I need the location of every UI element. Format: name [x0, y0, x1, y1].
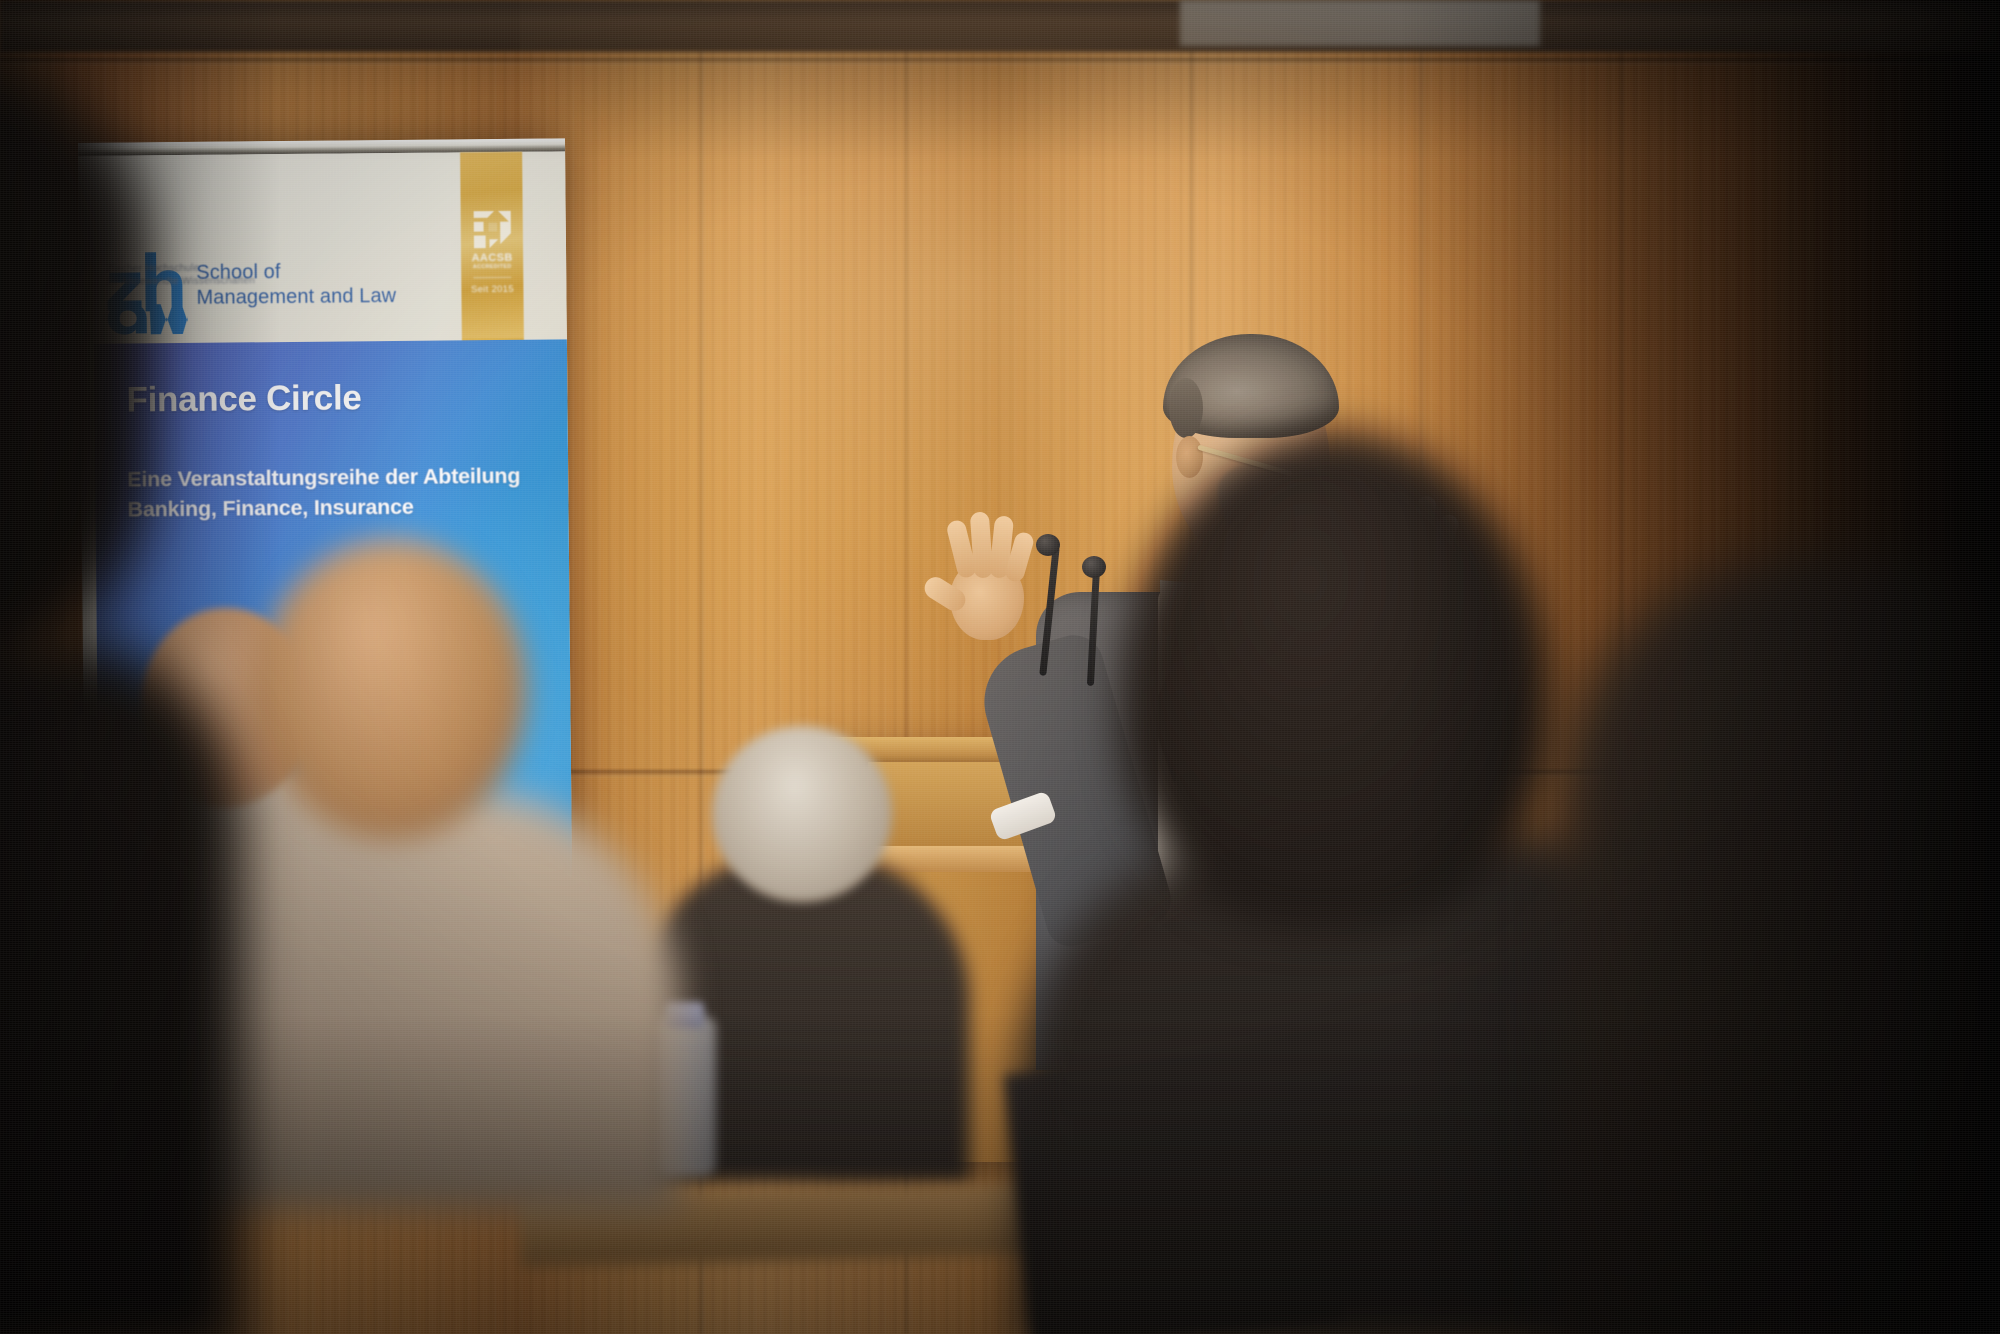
school-name-line1: School of [196, 259, 396, 286]
ceiling-panel [1180, 0, 1540, 46]
microphone-head-icon [1036, 534, 1060, 556]
shirt-button [1222, 776, 1233, 787]
shirt-button [1222, 836, 1233, 847]
speaker-figure [1000, 330, 1470, 1070]
shirt-button [1222, 716, 1233, 727]
leaf-ornament-icon [472, 924, 574, 1063]
shirt-button [1222, 956, 1233, 967]
rollup-banner: Zürcher Hochschule für Angewandte Wissen… [78, 138, 574, 1063]
photo-scene: Zürcher Hochschule für Angewandte Wissen… [0, 0, 2000, 1334]
microphone-head-icon [1082, 556, 1106, 578]
banner-subtitle-line1: Eine Veranstaltungsreihe der Abteilung [127, 460, 559, 494]
school-name-line2: Management and Law [196, 284, 396, 311]
shirt-button [1222, 896, 1233, 907]
ribbon-divider [473, 277, 511, 278]
aacsb-since: Seit 2015 [461, 284, 523, 296]
hand-left [936, 510, 1048, 646]
banner-headline: Finance Circle [126, 378, 361, 420]
shirt-button [1222, 658, 1233, 669]
banner-blue-panel: Finance Circle Eine Veranstaltungsreihe … [94, 339, 574, 1063]
school-name: School of Management and Law [196, 259, 396, 311]
aacsb-name: AACSB [461, 252, 523, 265]
panel-seam [1620, 0, 1625, 1334]
hand-right [1352, 488, 1472, 634]
panel-joint [0, 58, 2000, 65]
aacsb-logo-icon [473, 210, 512, 249]
aacsb-status: ACCREDITED [461, 264, 523, 271]
ear [1176, 436, 1203, 478]
panel-seam [700, 0, 705, 1334]
aacsb-accreditation-ribbon: AACSB ACCREDITED Seit 2015 [460, 152, 524, 340]
ceiling-band [0, 0, 2000, 52]
banner-subtitle-line2: Banking, Finance, Insurance [127, 490, 559, 524]
hair [1163, 334, 1339, 438]
banner-subtitle: Eine Veranstaltungsreihe der Abteilung B… [127, 460, 560, 524]
